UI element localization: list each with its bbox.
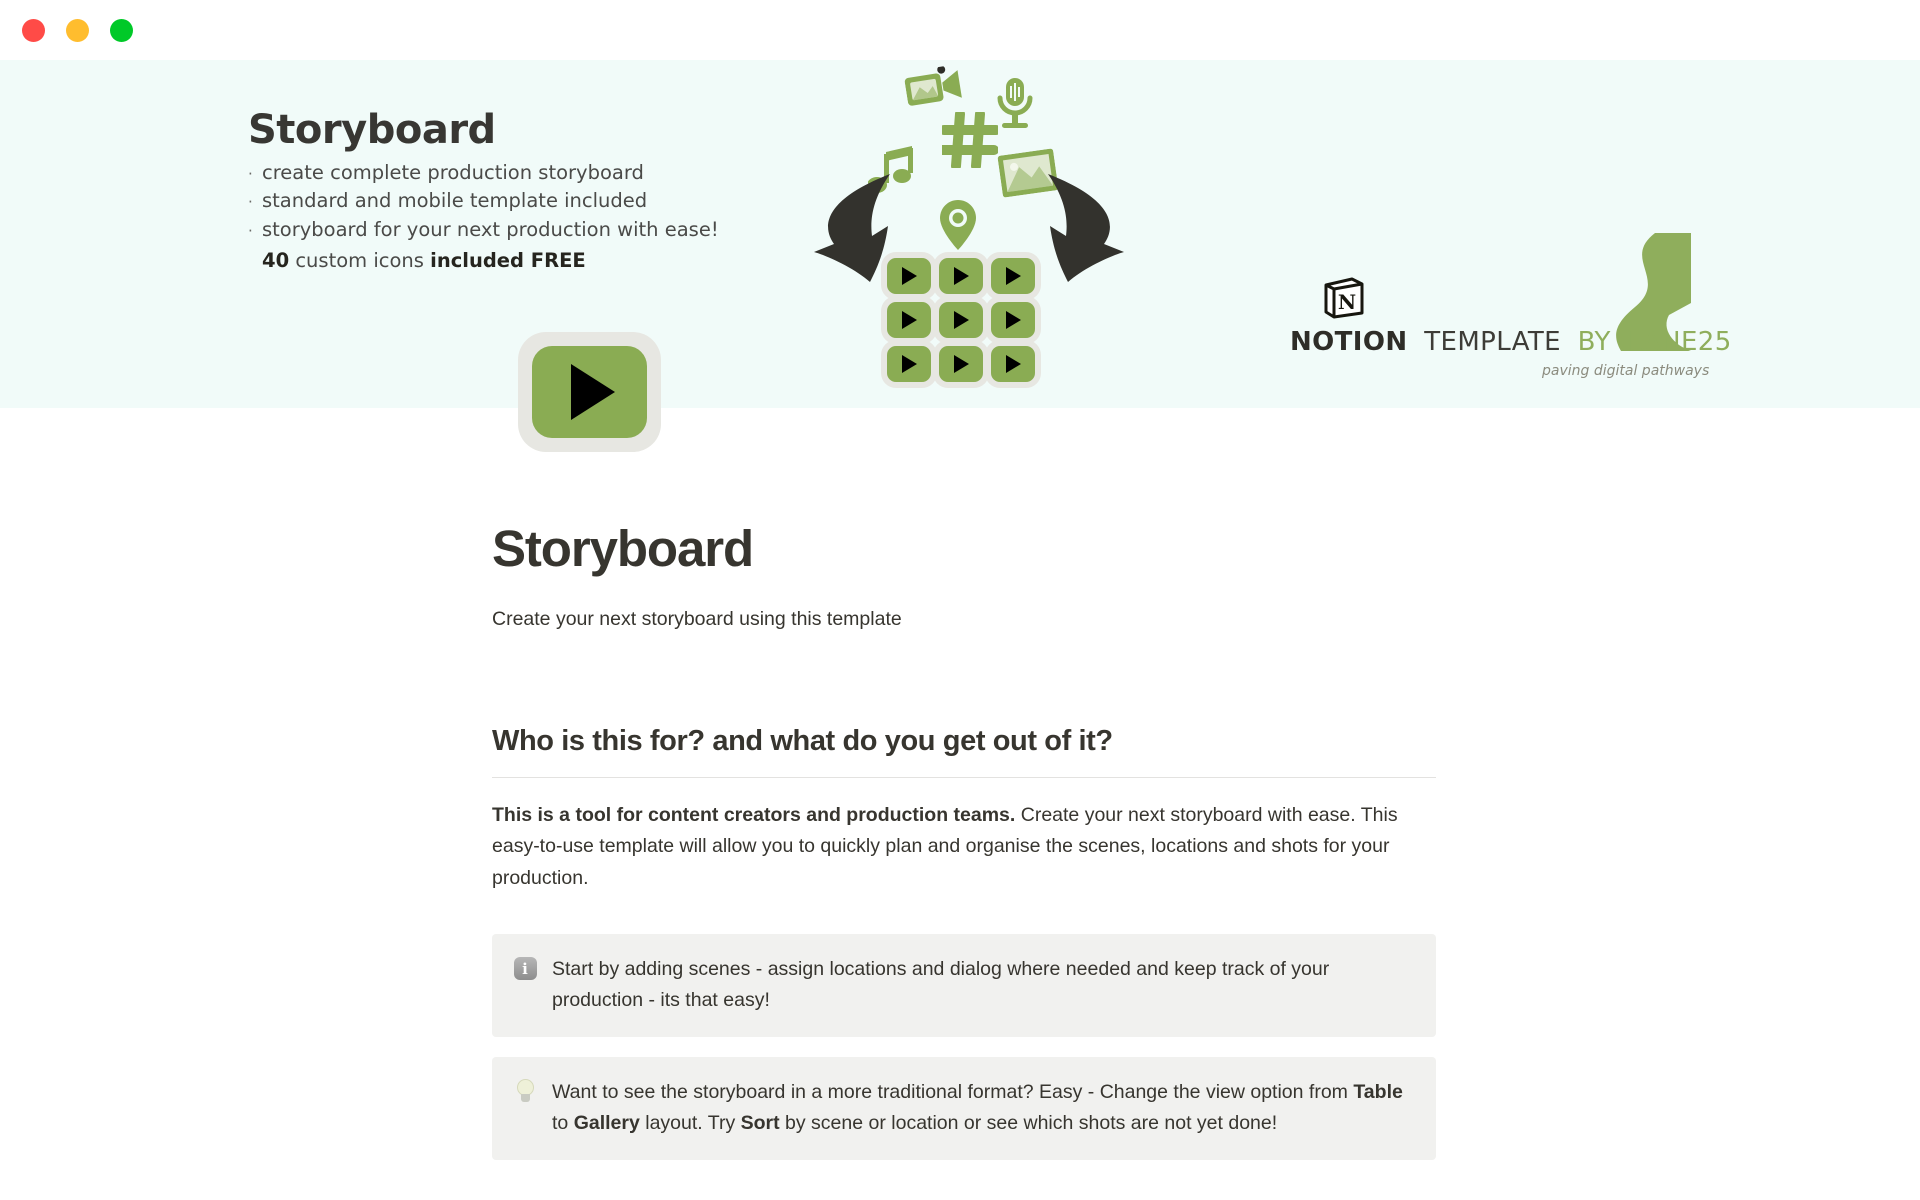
location-pin-icon	[940, 200, 976, 250]
play-tile	[939, 258, 983, 294]
cover-bullet-item: · create complete production storyboard	[248, 159, 808, 187]
page-cover-image[interactable]: Storyboard · create complete production …	[0, 60, 1920, 408]
play-tile	[887, 258, 931, 294]
cover-bullet-label: create complete production storyboard	[262, 159, 644, 187]
cover-text-block: Storyboard · create complete production …	[248, 109, 808, 276]
play-tile	[887, 346, 931, 382]
cover-illustration	[800, 60, 1130, 408]
callout-tip-emphasis: Gallery	[574, 1112, 640, 1134]
cover-free-middle: custom icons	[289, 249, 430, 272]
wordmark-notion: NOTION	[1290, 327, 1408, 357]
callout-info[interactable]: i Start by adding scenes - assign locati…	[492, 934, 1436, 1037]
bullet-dot-icon: ·	[248, 192, 262, 214]
cover-bullet-label: standard and mobile template included	[262, 187, 647, 215]
video-camera-icon	[903, 64, 965, 112]
play-tile	[991, 258, 1035, 294]
play-button-icon	[532, 346, 647, 438]
minimize-window-icon[interactable]	[66, 19, 89, 42]
cover-bullet-list: · create complete production storyboard …	[248, 159, 808, 244]
lane25-tagline: paving digital pathways	[1542, 363, 1709, 379]
bullet-dot-icon: ·	[248, 221, 262, 243]
arrow-down-right-icon	[1040, 172, 1124, 284]
section-heading[interactable]: Who is this for? and what do you get out…	[492, 725, 1436, 758]
notion-cube-icon: N	[1322, 275, 1366, 319]
traffic-lights	[22, 19, 133, 42]
page-content: Storyboard Create your next storyboard u…	[492, 520, 1436, 1160]
play-tile	[939, 302, 983, 338]
hashtag-icon	[942, 112, 998, 168]
maximize-window-icon[interactable]	[110, 19, 133, 42]
lane25-wordmark: NOTION TEMPLATE BY LANE25	[1290, 327, 1732, 357]
cover-bullet-label: storyboard for your next production with…	[262, 216, 719, 244]
wordmark-template: TEMPLATE	[1424, 327, 1561, 357]
bullet-dot-icon: ·	[248, 164, 262, 186]
callout-tip-emphasis: Sort	[741, 1112, 780, 1134]
cover-bullet-item: · storyboard for your next production wi…	[248, 216, 808, 244]
page-subtitle[interactable]: Create your next storyboard using this t…	[492, 605, 1436, 634]
play-tile	[991, 302, 1035, 338]
cover-free-count: 40	[262, 249, 289, 272]
cover-free-icons-line: 40 custom icons included FREE	[248, 246, 808, 275]
close-window-icon[interactable]	[22, 19, 45, 42]
callout-tip[interactable]: Want to see the storyboard in a more tra…	[492, 1057, 1436, 1160]
section-divider	[492, 777, 1436, 778]
lane25-branding: N NOTION TEMPLATE BY LANE25 paving digit…	[1290, 275, 1710, 408]
info-icon: i	[512, 956, 538, 982]
play-tile	[939, 346, 983, 382]
callout-tip-emphasis: Table	[1353, 1081, 1402, 1103]
callout-tip-segment: to	[552, 1112, 574, 1134]
body-paragraph[interactable]: This is a tool for content creators and …	[492, 800, 1436, 895]
lightbulb-icon	[512, 1079, 538, 1105]
svg-text:N: N	[1338, 290, 1356, 314]
callout-info-text: Start by adding scenes - assign location…	[552, 954, 1414, 1017]
arrow-down-left-icon	[814, 172, 898, 284]
window-titlebar	[0, 0, 1920, 60]
wordmark-by: BY	[1578, 327, 1611, 357]
callout-tip-segment: layout. Try	[640, 1112, 741, 1134]
play-tile	[887, 302, 931, 338]
cover-title: Storyboard	[248, 109, 808, 151]
cover-free-emphasis: included FREE	[430, 249, 586, 272]
microphone-icon	[996, 78, 1034, 130]
body-lead-bold: This is a tool for content creators and …	[492, 804, 1015, 826]
play-tile-grid	[887, 258, 1035, 382]
callout-tip-segment: by scene or location or see which shots …	[780, 1112, 1278, 1134]
callout-tip-segment: Want to see the storyboard in a more tra…	[552, 1081, 1353, 1103]
play-tile	[991, 346, 1035, 382]
callout-tip-text: Want to see the storyboard in a more tra…	[552, 1077, 1414, 1140]
cover-bullet-item: · standard and mobile template included	[248, 187, 808, 215]
page-icon[interactable]	[518, 332, 661, 452]
page-title[interactable]: Storyboard	[492, 520, 1436, 579]
wordmark-lane25: LANE25	[1627, 327, 1731, 357]
